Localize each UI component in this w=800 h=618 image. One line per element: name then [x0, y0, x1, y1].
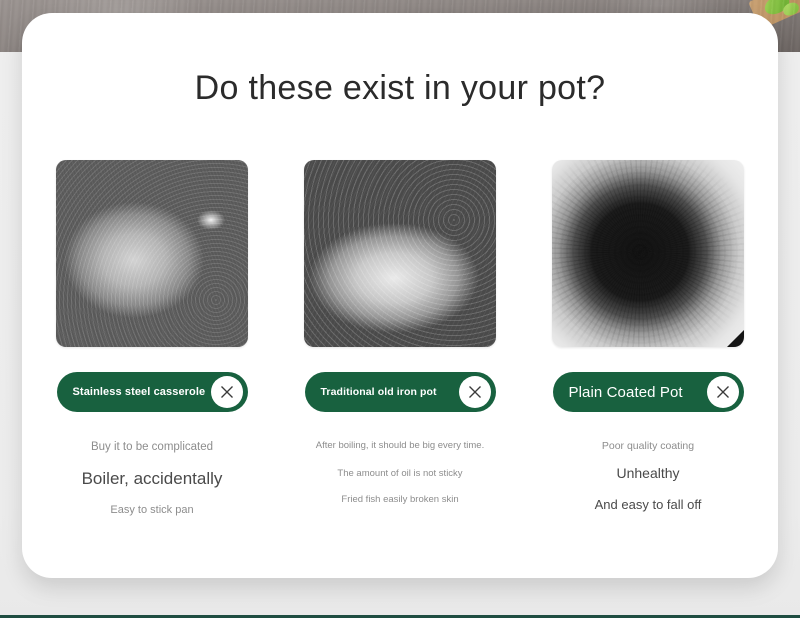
caption-group: Poor quality coating Unhealthy And easy … [541, 440, 756, 513]
caption-line-2: Boiler, accidentally [45, 468, 260, 489]
caption-line-2: The amount of oil is not sticky [293, 468, 508, 480]
comparison-column: Traditional old iron pot After boiling, … [300, 160, 500, 517]
pot-type-badge[interactable]: Plain Coated Pot [553, 372, 744, 412]
close-x-icon[interactable] [459, 376, 491, 408]
badge-label: Traditional old iron pot [321, 386, 437, 398]
caption-line-3: And easy to fall off [541, 497, 756, 513]
photo-corner-shadow [727, 330, 744, 347]
close-x-icon[interactable] [707, 376, 739, 408]
caption-group: Buy it to be complicated Boiler, acciden… [45, 440, 260, 517]
badge-label: Stainless steel casserole [73, 386, 206, 398]
pot-photo [552, 160, 744, 347]
caption-line-2: Unhealthy [541, 465, 756, 483]
comparison-column: Plain Coated Pot Poor quality coating Un… [548, 160, 748, 517]
caption-group: After boiling, it should be big every ti… [293, 440, 508, 506]
caption-line-1: After boiling, it should be big every ti… [293, 440, 508, 452]
green-vegetable-secondary-icon [782, 1, 800, 17]
badge-label: Plain Coated Pot [569, 384, 683, 401]
content-card: Do these exist in your pot? Stainless st… [22, 13, 778, 578]
pot-photo [304, 160, 496, 347]
comparison-columns: Stainless steel casserole Buy it to be c… [52, 160, 748, 517]
caption-line-3: Easy to stick pan [45, 504, 260, 518]
pot-photo [56, 160, 248, 347]
close-x-icon[interactable] [211, 376, 243, 408]
comparison-column: Stainless steel casserole Buy it to be c… [52, 160, 252, 517]
caption-line-1: Buy it to be complicated [45, 440, 260, 454]
caption-line-3: Fried fish easily broken skin [293, 494, 508, 506]
green-vegetable-icon [762, 0, 792, 17]
page-title: Do these exist in your pot? [22, 69, 778, 108]
pot-type-badge[interactable]: Traditional old iron pot [305, 372, 496, 412]
pot-type-badge[interactable]: Stainless steel casserole [57, 372, 248, 412]
caption-line-1: Poor quality coating [541, 440, 756, 452]
